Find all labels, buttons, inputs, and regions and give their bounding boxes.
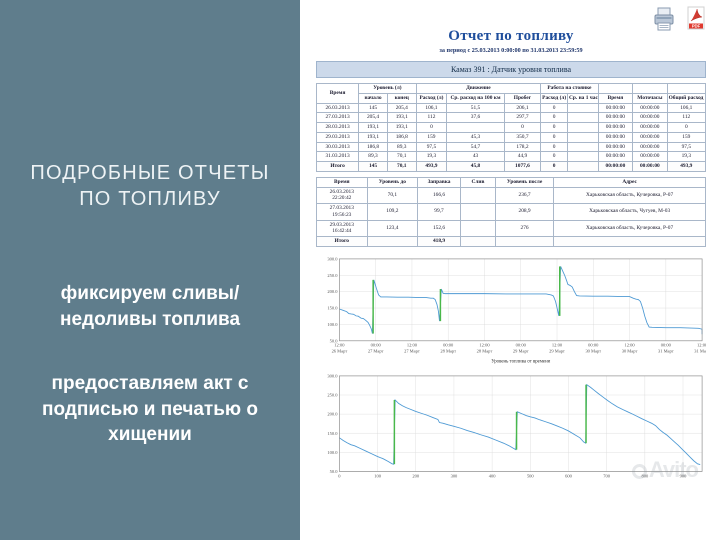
cell: 0 — [541, 103, 568, 113]
cell — [567, 152, 598, 162]
svg-text:300.0: 300.0 — [327, 373, 338, 378]
table-row: 28.03.2013193,1193,100000:00:0000:00:000 — [317, 123, 706, 133]
svg-text:28 Март: 28 Март — [440, 348, 456, 353]
th2-address: Адрес — [554, 177, 706, 187]
svg-text:200.0: 200.0 — [327, 412, 338, 417]
th-idle-consumption: Расход (л) — [541, 93, 568, 103]
refuel-events-table: Время Уровень до Заправка Слив Уровень п… — [316, 177, 706, 247]
cell: 00:00:00 — [633, 152, 667, 162]
table-row: 29.03.201316:42:44123,4152,6276Харьковск… — [317, 220, 706, 237]
th-level-end: конец — [387, 93, 416, 103]
cell: 350,7 — [504, 132, 540, 142]
cell: 29.03.2013 — [317, 132, 359, 142]
cell: 112 — [667, 113, 705, 123]
cell: 193,1 — [387, 113, 416, 123]
cell: 193,1 — [359, 123, 388, 133]
th-avg-per-100km: Ср. расход на 100 км — [447, 93, 504, 103]
table-total-row: Итого418,9 — [317, 237, 706, 247]
cell: 109,2 — [367, 204, 418, 221]
th-time: Время — [317, 84, 359, 104]
cell: 00:00:00 — [598, 142, 632, 152]
cell: 00:00:00 — [633, 123, 667, 133]
cell: 0 — [667, 123, 705, 133]
cell: 00:00:00 — [633, 162, 667, 172]
cell — [447, 123, 504, 133]
cell: 89,3 — [359, 152, 388, 162]
svg-text:12:00: 12:00 — [479, 342, 490, 347]
cell: 00:00:00 — [598, 103, 632, 113]
cell: Итого — [317, 162, 359, 172]
th2-time: Время — [317, 177, 368, 187]
svg-text:250.0: 250.0 — [327, 393, 338, 398]
cell: 193,1 — [359, 132, 388, 142]
svg-text:00:00: 00:00 — [516, 342, 527, 347]
cell: 186,8 — [387, 132, 416, 142]
cell: 276 — [495, 220, 553, 237]
cell: 00:00:00 — [598, 152, 632, 162]
cell — [460, 187, 495, 204]
daily-consumption-body: 26.03.2013145205,4106,151,5206,1000:00:0… — [317, 103, 706, 171]
cell: 29.03.201316:42:44 — [317, 220, 368, 237]
cell: 145 — [359, 162, 388, 172]
cell: 30.03.2013 — [317, 142, 359, 152]
cell: 00:00:00 — [633, 103, 667, 113]
cell: 70,1 — [387, 152, 416, 162]
table-header-row: начало конец Расход (л) Ср. расход на 10… — [317, 93, 706, 103]
svg-text:100.0: 100.0 — [327, 450, 338, 455]
cell: 159 — [667, 132, 705, 142]
svg-text:29 Март: 29 Март — [513, 348, 529, 353]
page-root: ПОДРОБНЫЕ ОТЧЕТЫ ПО ТОПЛИВУ фиксируем сл… — [0, 0, 720, 540]
svg-text:12:00: 12:00 — [552, 342, 563, 347]
cell: Итого — [317, 237, 368, 247]
th-spacer-3 — [667, 84, 705, 94]
fuel-level-mileage-chart: 300.0250.0200.0150.0100.050.001002003004… — [316, 372, 706, 487]
cell: 166,6 — [418, 187, 461, 204]
cell: 70,1 — [387, 162, 416, 172]
cell: 0 — [504, 123, 540, 133]
cell: 0 — [541, 142, 568, 152]
cell — [460, 204, 495, 221]
cell: 00:00:00 — [598, 162, 632, 172]
svg-text:27 Март: 27 Март — [404, 348, 420, 353]
cell: 19,3 — [416, 152, 447, 162]
th2-level-after: Уровень после — [495, 177, 553, 187]
th-group-movement: Движение — [416, 84, 541, 94]
report-panel: PDF Отчет по топливу за период с 25.03.2… — [300, 0, 720, 540]
svg-text:200.0: 200.0 — [327, 289, 338, 294]
cell — [567, 142, 598, 152]
cell: 45,8 — [447, 162, 504, 172]
cell: 31.03.2013 — [317, 152, 359, 162]
svg-text:31 Март: 31 Март — [658, 348, 674, 353]
svg-text:28 Март: 28 Март — [477, 348, 493, 353]
th-spacer-1 — [598, 84, 632, 94]
cell: 0 — [416, 123, 447, 133]
cell: 27.03.201319:56:23 — [317, 204, 368, 221]
th-spacer-2 — [633, 84, 667, 94]
th-idle-time: Время — [598, 93, 632, 103]
svg-text:PDF: PDF — [692, 24, 701, 29]
svg-text:12:00: 12:00 — [334, 342, 345, 347]
cell: 37,6 — [447, 113, 504, 123]
cell: 0 — [541, 132, 568, 142]
svg-text:150.0: 150.0 — [327, 431, 338, 436]
fuel-level-time-chart: 300.0250.0200.0150.0100.050.012:0026 Мар… — [316, 255, 706, 364]
cell: 193,1 — [387, 123, 416, 133]
report-period: за период с 25.03.2013 0:00:00 по 31.03.… — [312, 47, 710, 54]
cell: 51,5 — [447, 103, 504, 113]
svg-text:00:00: 00:00 — [588, 342, 599, 347]
cell — [567, 132, 598, 142]
svg-text:30 Март: 30 Март — [622, 348, 638, 353]
svg-text:250.0: 250.0 — [327, 273, 338, 278]
th2-level-before: Уровень до — [367, 177, 418, 187]
th2-refuel: Заправка — [418, 177, 461, 187]
svg-text:300: 300 — [451, 473, 458, 478]
cell — [567, 113, 598, 123]
table-total-row: Итого14570,1493,945,81077,6000:00:0000:0… — [317, 162, 706, 172]
table-row: 26.03.2013145205,4106,151,5206,1000:00:0… — [317, 103, 706, 113]
svg-text:12:00: 12:00 — [697, 342, 706, 347]
cell: 00:00:00 — [633, 132, 667, 142]
cell: 0 — [541, 123, 568, 133]
cell: 205,4 — [387, 103, 416, 113]
svg-text:27 Март: 27 Март — [368, 348, 384, 353]
cell: 70,1 — [367, 187, 418, 204]
cell: 206,1 — [504, 103, 540, 113]
svg-text:100.0: 100.0 — [327, 322, 338, 327]
th-group-idle: Работа на стоянке — [541, 84, 598, 94]
th-total-consumption: Общий расход (л) — [667, 93, 705, 103]
th-group-level: Уровень (л) — [359, 84, 416, 94]
svg-text:800: 800 — [641, 473, 648, 478]
cell: 00:00:00 — [598, 113, 632, 123]
cell: 99,7 — [418, 204, 461, 221]
fuel-level-mileage-svg: 300.0250.0200.0150.0100.050.001002003004… — [316, 372, 706, 487]
svg-text:00:00: 00:00 — [661, 342, 672, 347]
cell: 28.03.2013 — [317, 123, 359, 133]
svg-text:400: 400 — [489, 473, 496, 478]
cell: 106,1 — [667, 103, 705, 113]
table-row: 27.03.201319:56:23109,299,7208,9Харьковс… — [317, 204, 706, 221]
cell: Харьковская область, Кучеровка, Р-07 — [554, 220, 706, 237]
table-row: 31.03.201389,370,119,34344,9000:00:0000:… — [317, 152, 706, 162]
promo-bullet-2: предоставляем акт с подписью и печатью о… — [0, 371, 300, 448]
svg-text:26 Март: 26 Март — [332, 348, 348, 353]
cell — [554, 237, 706, 247]
cell: 27.03.2013 — [317, 113, 359, 123]
svg-text:50.0: 50.0 — [330, 469, 339, 474]
svg-text:Уровень топлива от времени: Уровень топлива от времени — [491, 359, 550, 363]
cell: 43 — [447, 152, 504, 162]
th2-drain: Слив — [460, 177, 495, 187]
svg-text:900: 900 — [680, 473, 687, 478]
refuel-header-row: Время Уровень до Заправка Слив Уровень п… — [317, 177, 706, 187]
cell — [495, 237, 553, 247]
daily-consumption-table: Время Уровень (л) Движение Работа на сто… — [316, 83, 706, 172]
cell: 236,7 — [495, 187, 553, 204]
cell: 418,9 — [418, 237, 461, 247]
cell: 186,8 — [359, 142, 388, 152]
cell: 19,3 — [667, 152, 705, 162]
table-row: 30.03.2013186,889,397,554,7178,2000:00:0… — [317, 142, 706, 152]
cell: 00:00:00 — [633, 113, 667, 123]
cell — [460, 220, 495, 237]
th-move-consumption: Расход (л) — [416, 93, 447, 103]
svg-text:31 Март: 31 Март — [694, 348, 706, 353]
cell: 145 — [359, 103, 388, 113]
svg-text:12:00: 12:00 — [624, 342, 635, 347]
svg-text:00:00: 00:00 — [443, 342, 454, 347]
cell: 493,9 — [667, 162, 705, 172]
svg-text:29 Март: 29 Март — [549, 348, 565, 353]
cell: 54,7 — [447, 142, 504, 152]
th-level-start: начало — [359, 93, 388, 103]
cell — [567, 103, 598, 113]
cell: 208,9 — [495, 204, 553, 221]
cell: 106,1 — [416, 103, 447, 113]
cell: 112 — [416, 113, 447, 123]
svg-text:500: 500 — [527, 473, 534, 478]
cell: 0 — [541, 152, 568, 162]
th-engine-hours: Моточасы — [633, 93, 667, 103]
print-icon[interactable] — [652, 6, 676, 32]
cell: 1077,6 — [504, 162, 540, 172]
report-title: Отчет по топливу — [312, 28, 710, 45]
cell: 00:00:00 — [598, 132, 632, 142]
cell: 178,2 — [504, 142, 540, 152]
cell: 97,5 — [667, 142, 705, 152]
svg-text:600: 600 — [565, 473, 572, 478]
promo-bullet-1: фиксируем сливы/ недоливы топлива — [0, 281, 300, 332]
cell: 26.03.201322:20:42 — [317, 187, 368, 204]
cell: Харьковская область, Кучеровка, Р-07 — [554, 187, 706, 204]
cell: 0 — [541, 162, 568, 172]
cell: 26.03.2013 — [317, 103, 359, 113]
svg-text:0: 0 — [338, 473, 341, 478]
cell — [567, 162, 598, 172]
cell: 123,4 — [367, 220, 418, 237]
cell: 152,6 — [418, 220, 461, 237]
table-row: 27.03.2013205,4193,111237,6297,7000:00:0… — [317, 113, 706, 123]
cell: 44,9 — [504, 152, 540, 162]
th-mileage: Пробег — [504, 93, 540, 103]
cell: 297,7 — [504, 113, 540, 123]
cell: 89,3 — [387, 142, 416, 152]
cell — [460, 237, 495, 247]
svg-text:12:00: 12:00 — [407, 342, 418, 347]
svg-text:00:00: 00:00 — [371, 342, 382, 347]
cell: 205,4 — [359, 113, 388, 123]
cell — [567, 123, 598, 133]
cell: 45,3 — [447, 132, 504, 142]
cell: 00:00:00 — [633, 142, 667, 152]
cell: Харьковская область, Чугуев, М-03 — [554, 204, 706, 221]
promo-headline: ПОДРОБНЫЕ ОТЧЕТЫ ПО ТОПЛИВУ — [0, 160, 300, 212]
promo-panel: ПОДРОБНЫЕ ОТЧЕТЫ ПО ТОПЛИВУ фиксируем сл… — [0, 0, 300, 540]
svg-text:200: 200 — [412, 473, 419, 478]
cell — [367, 237, 418, 247]
cell: 00:00:00 — [598, 123, 632, 133]
svg-text:100: 100 — [374, 473, 381, 478]
cell: 159 — [416, 132, 447, 142]
cell: 97,5 — [416, 142, 447, 152]
table-row: 29.03.2013193,1186,815945,3350,7000:00:0… — [317, 132, 706, 142]
svg-text:700: 700 — [603, 473, 610, 478]
pdf-icon[interactable]: PDF — [684, 6, 708, 32]
cell: 0 — [541, 113, 568, 123]
fuel-level-time-svg: 300.0250.0200.0150.0100.050.012:0026 Мар… — [316, 255, 706, 364]
table-group-header-row: Время Уровень (л) Движение Работа на сто… — [317, 84, 706, 94]
refuel-events-body: 26.03.201322:20:4270,1166,6236,7Харьковс… — [317, 187, 706, 246]
svg-text:150.0: 150.0 — [327, 305, 338, 310]
cell: 493,9 — [416, 162, 447, 172]
report-toolbar: PDF — [652, 6, 708, 32]
svg-text:300.0: 300.0 — [327, 256, 338, 261]
table-row: 26.03.201322:20:4270,1166,6236,7Харьковс… — [317, 187, 706, 204]
svg-text:30 Март: 30 Март — [585, 348, 601, 353]
vehicle-header: Камаз 391 : Датчик уровня топлива — [316, 61, 706, 78]
th-avg-per-hour: Ср. на 1 час — [567, 93, 598, 103]
